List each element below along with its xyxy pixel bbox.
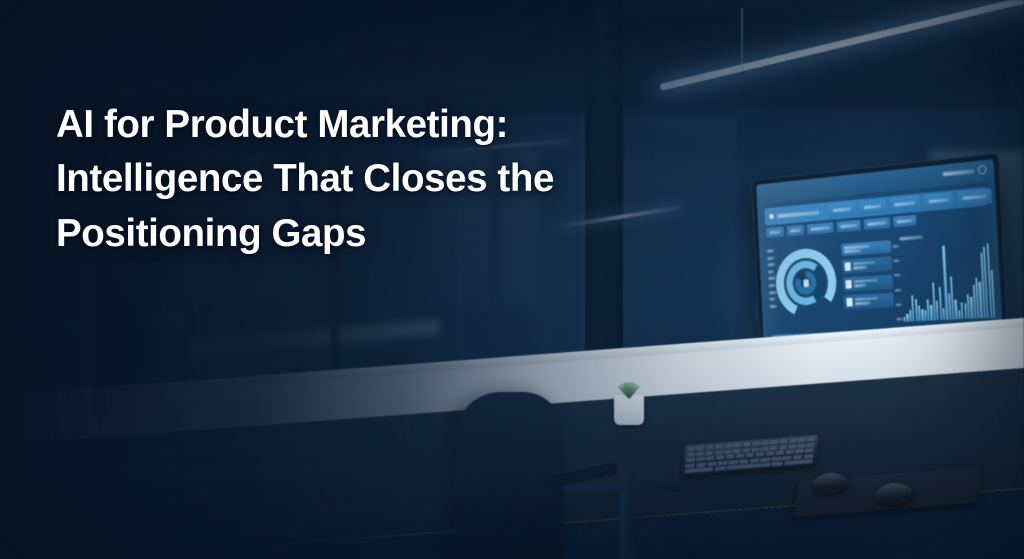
tab-item[interactable] — [924, 192, 954, 209]
card-icon — [846, 298, 852, 307]
refresh-icon[interactable] — [978, 165, 987, 175]
bar — [903, 317, 905, 322]
subtab-item[interactable] — [893, 215, 917, 228]
bar — [921, 309, 924, 321]
bar-chart-title — [899, 236, 922, 241]
status-text — [943, 169, 975, 176]
bar — [954, 299, 957, 319]
subtab-item[interactable] — [837, 220, 861, 232]
headline-line-3: Positioning Gaps — [56, 207, 656, 262]
overview-panel — [766, 222, 999, 328]
donut-center-icon — [803, 279, 809, 288]
background-photo — [0, 0, 1024, 559]
metric-card[interactable] — [843, 274, 893, 291]
metric-card[interactable] — [842, 256, 892, 274]
dashboard-status-area — [943, 165, 987, 178]
bar — [906, 314, 908, 322]
potted-plant — [610, 372, 648, 398]
subtab-item[interactable] — [787, 225, 804, 237]
desk-crossbar — [560, 482, 680, 492]
bar — [938, 287, 942, 321]
hero-banner: AI for Product Marketing: Intelligence T… — [0, 0, 1024, 559]
pendant-light-rod — [741, 8, 743, 72]
subtab-item[interactable] — [864, 217, 890, 230]
headline-line-2: Intelligence That Closes the — [56, 152, 656, 207]
main-vertical-bar-chart — [900, 240, 995, 322]
metric-card[interactable] — [841, 240, 891, 256]
tab-item[interactable] — [958, 188, 992, 206]
subtab-item[interactable] — [807, 222, 834, 234]
metric-card[interactable] — [844, 292, 894, 309]
metric-card-list — [841, 240, 894, 309]
subtab-item[interactable] — [766, 227, 784, 239]
chair-stem — [495, 520, 509, 559]
tab-item[interactable] — [828, 201, 856, 218]
headline-line-1: AI for Product Marketing: — [56, 98, 656, 153]
bar — [961, 302, 964, 319]
concentric-donut-chart — [774, 246, 838, 318]
bar — [936, 300, 939, 320]
tab-item[interactable] — [889, 195, 920, 212]
tab-item[interactable] — [859, 199, 886, 216]
card-icon — [845, 280, 851, 289]
card-icon — [845, 262, 851, 271]
plant-pot — [614, 395, 644, 425]
ceiling-beam — [560, 22, 1024, 34]
page-title: AI for Product Marketing: Intelligence T… — [56, 98, 656, 262]
bar — [918, 306, 921, 321]
